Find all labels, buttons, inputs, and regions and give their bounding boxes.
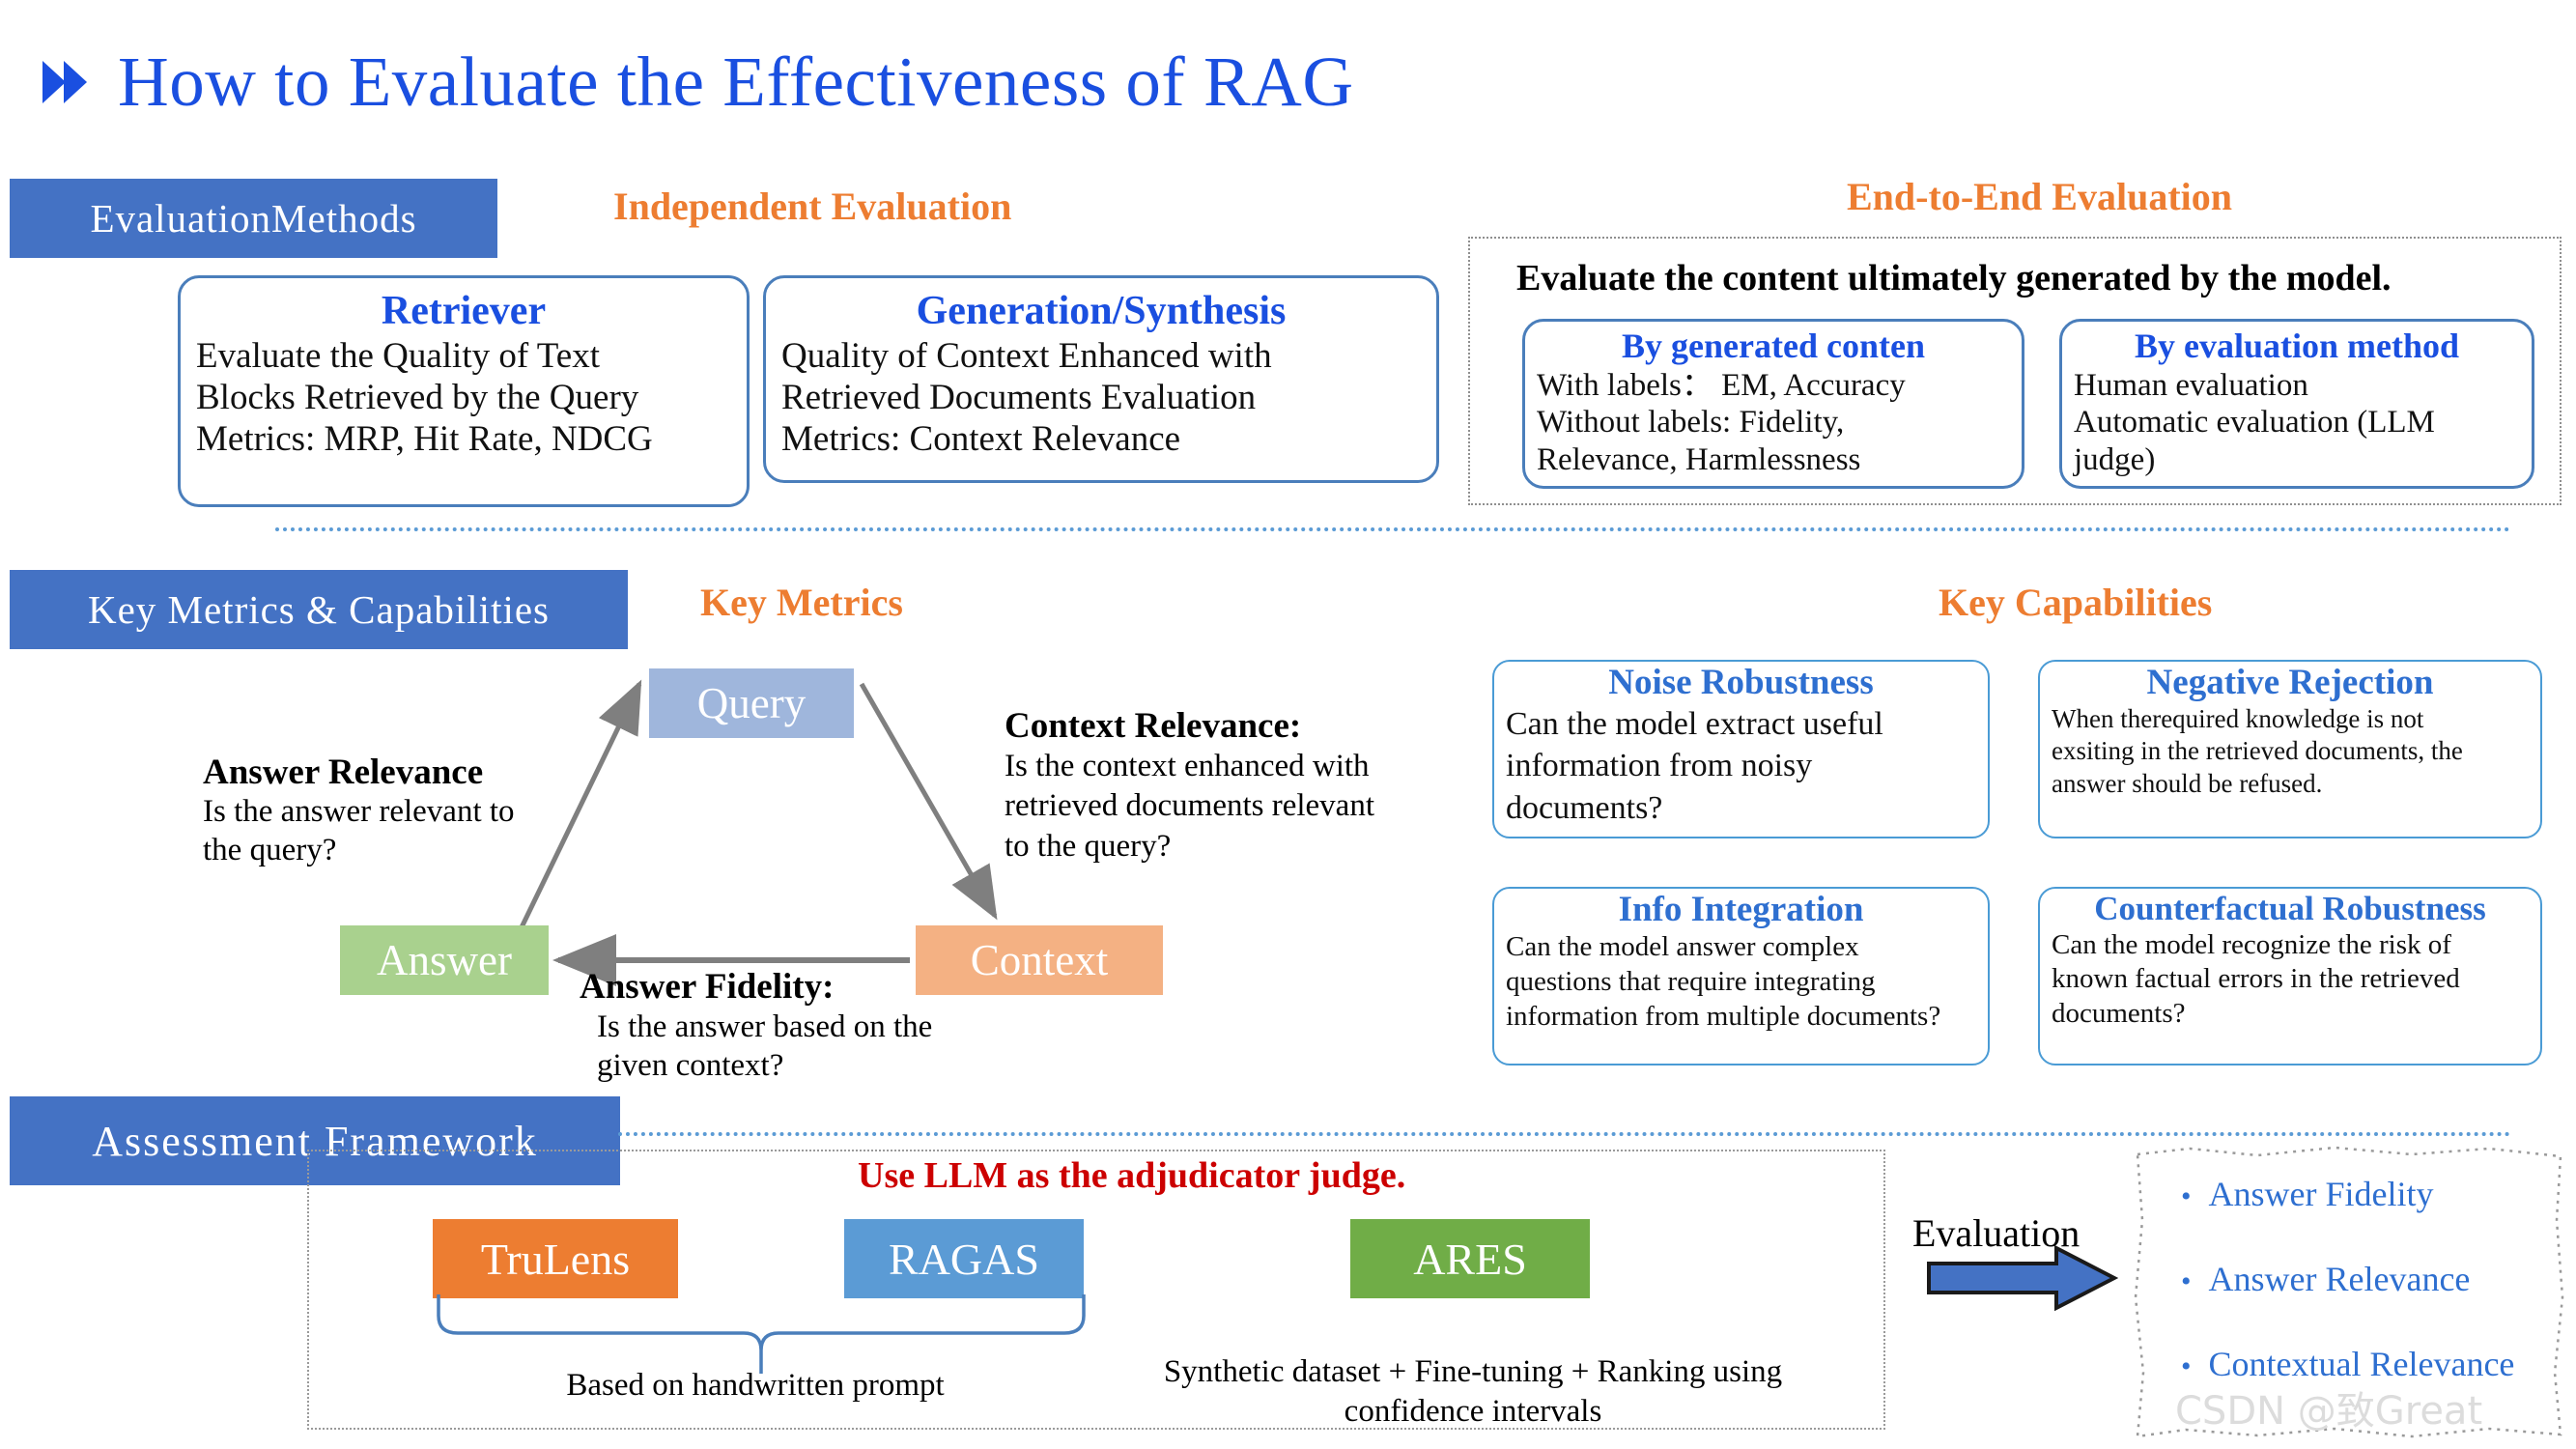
card-title: Negative Rejection	[2052, 664, 2529, 703]
label-llm-judge: Use LLM as the adjudicator judge.	[858, 1154, 1405, 1197]
page-title: How to Evaluate the Effectiveness of RAG	[118, 42, 1354, 123]
card-by-generated-content-body: With labels： EM, Accuracy Without labels…	[1537, 367, 2010, 478]
text-line: retrieved documents relevant	[1005, 786, 1401, 826]
card-retriever-title: Retriever	[196, 288, 731, 334]
text-line: Can the model recognize the risk of	[2052, 928, 2529, 963]
annotation-title: Context Relevance:	[1005, 705, 1401, 747]
text-line: to the query?	[1005, 827, 1401, 867]
tool-box-ares: ARES	[1350, 1219, 1590, 1298]
text-line: the query?	[203, 832, 570, 870]
card-by-evaluation-method: By evaluation method Human evaluation Au…	[2059, 319, 2534, 489]
list-item: • Answer Fidelity	[2181, 1174, 2567, 1214]
card-generation-title: Generation/Synthesis	[781, 288, 1421, 334]
text-line: judge)	[2074, 441, 2520, 478]
card-body: Can the model recognize the risk of know…	[2052, 928, 2529, 1033]
card-title: Counterfactual Robustness	[2052, 891, 2529, 928]
double-triangle-bullet-icon	[39, 55, 93, 109]
list-item: • Answer Relevance	[2181, 1259, 2567, 1299]
text-line: Human evaluation	[2074, 367, 2520, 404]
card-body: Can the model answer complex questions t…	[1506, 930, 1976, 1035]
annotation-answer-fidelity: Answer Fidelity: Is the answer based on …	[580, 966, 1043, 1086]
card-noise-robustness: Noise Robustness Can the model extract u…	[1492, 660, 1990, 838]
list-item: • Contextual Relevance	[2181, 1344, 2567, 1384]
card-counterfactual-robustness: Counterfactual Robustness Can the model …	[2038, 887, 2542, 1065]
page-header: How to Evaluate the Effectiveness of RAG	[39, 29, 2357, 135]
label-key-capabilities: Key Capabilities	[1939, 580, 2212, 625]
text-line: With labels： EM, Accuracy	[1537, 367, 2010, 404]
section-divider-2	[618, 1132, 2511, 1136]
list-item-label: Answer Relevance	[2209, 1259, 2471, 1299]
label-end-to-end-evaluation: End-to-End Evaluation	[1847, 174, 2232, 219]
list-item-label: Answer Fidelity	[2209, 1174, 2434, 1214]
text-line: exsiting in the retrieved documents, the	[2052, 735, 2529, 767]
annotation-title: Answer Relevance	[203, 752, 570, 793]
label-key-metrics: Key Metrics	[700, 580, 903, 625]
card-title: Noise Robustness	[1506, 664, 1976, 703]
card-by-evaluation-method-title: By evaluation method	[2074, 326, 2520, 366]
text-line: documents?	[1506, 787, 1976, 830]
card-retriever-body: Evaluate the Quality of Text Blocks Retr…	[196, 336, 731, 461]
watermark: CSDN @致Great	[2175, 1379, 2482, 1435]
right-arrow-icon	[1925, 1244, 2118, 1312]
node-query: Query	[649, 668, 854, 738]
text-line: Can the model answer complex	[1506, 930, 1976, 965]
text-line: Blocks Retrieved by the Query	[196, 378, 731, 419]
annotation-answer-relevance: Answer Relevance Is the answer relevant …	[203, 752, 570, 869]
tool-box-trulens: TruLens	[433, 1219, 678, 1298]
annotation-title: Answer Fidelity:	[580, 966, 1043, 1008]
text-line: information from multiple documents?	[1506, 1000, 1976, 1035]
section-bar-evaluation-methods: EvaluationMethods	[10, 179, 497, 258]
text-line: Synthetic dataset + Fine-tuning + Rankin…	[1120, 1352, 1826, 1392]
bullet-icon: •	[2181, 1182, 2192, 1211]
text-line: Can the model extract useful	[1506, 703, 1976, 746]
bullet-icon: •	[2181, 1267, 2192, 1296]
text-line: known factual errors in the retrieved	[2052, 962, 2529, 997]
label-independent-evaluation: Independent Evaluation	[613, 184, 1011, 229]
tool-box-ragas: RAGAS	[844, 1219, 1084, 1298]
card-body: When therequired knowledge is not exsiti…	[2052, 703, 2529, 800]
card-by-generated-content: By generated conten With labels： EM, Acc…	[1522, 319, 2024, 489]
text-line: Metrics: Context Relevance	[781, 419, 1421, 461]
text-line: Quality of Context Enhanced with	[781, 336, 1421, 378]
end-to-end-heading: Evaluate the content ultimately generate…	[1516, 257, 2392, 299]
text-line: confidence intervals	[1120, 1392, 1826, 1432]
text-line: Metrics: MRP, Hit Rate, NDCG	[196, 419, 731, 461]
text-line: given context?	[580, 1046, 1043, 1085]
text-line: Relevance, Harmlessness	[1537, 441, 2010, 478]
text-line: questions that require integrating	[1506, 965, 1976, 1000]
label-handwritten-prompt: Based on handwritten prompt	[533, 1368, 977, 1404]
text-line: documents?	[2052, 997, 2529, 1032]
card-generation-synthesis: Generation/Synthesis Quality of Context …	[763, 275, 1439, 483]
text-line: Without labels: Fidelity,	[1537, 404, 2010, 440]
label-ares-note: Synthetic dataset + Fine-tuning + Rankin…	[1120, 1352, 1826, 1433]
text-line: Is the answer relevant to	[203, 793, 570, 832]
text-line: Evaluate the Quality of Text	[196, 336, 731, 378]
card-body: Can the model extract useful information…	[1506, 703, 1976, 830]
card-title: Info Integration	[1506, 891, 1976, 930]
bullet-icon: •	[2181, 1352, 2192, 1381]
card-negative-rejection: Negative Rejection When therequired know…	[2038, 660, 2542, 838]
text-line: information from noisy	[1506, 745, 1976, 787]
text-line: Automatic evaluation (LLM	[2074, 404, 2520, 440]
text-line: answer should be refused.	[2052, 768, 2529, 800]
card-generation-body: Quality of Context Enhanced with Retriev…	[781, 336, 1421, 461]
section-divider-1	[275, 527, 2511, 531]
card-info-integration: Info Integration Can the model answer co…	[1492, 887, 1990, 1065]
text-line: When therequired knowledge is not	[2052, 703, 2529, 735]
card-by-generated-content-title: By generated conten	[1537, 326, 2010, 366]
node-answer: Answer	[340, 925, 549, 995]
card-by-evaluation-method-body: Human evaluation Automatic evaluation (L…	[2074, 367, 2520, 478]
list-item-label: Contextual Relevance	[2209, 1344, 2515, 1384]
text-line: Retrieved Documents Evaluation	[781, 378, 1421, 419]
annotation-context-relevance: Context Relevance: Is the context enhanc…	[1005, 705, 1401, 867]
text-line: Is the answer based on the	[580, 1008, 1043, 1046]
card-retriever: Retriever Evaluate the Quality of Text B…	[178, 275, 750, 507]
text-line: Is the context enhanced with	[1005, 747, 1401, 786]
